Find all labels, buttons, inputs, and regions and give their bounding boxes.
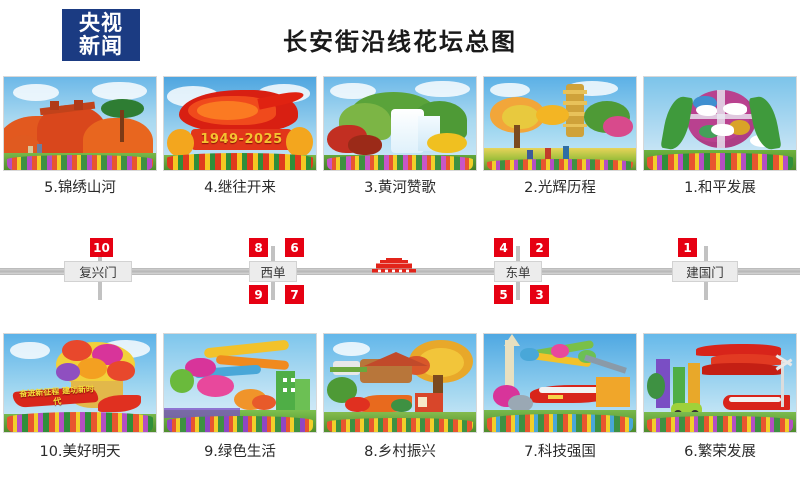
- map-marker-5[interactable]: 5: [494, 285, 513, 304]
- flowerbed-thumb-10[interactable]: 奋进新征程 建功新时代: [0, 333, 160, 433]
- map-marker-2[interactable]: 2: [530, 238, 549, 257]
- station-label: 复兴门: [79, 262, 117, 281]
- station-label: 东单: [505, 262, 530, 281]
- bottom-image-row: 奋进新征程 建功新时代: [0, 333, 800, 433]
- station-label: 建国门: [686, 262, 724, 281]
- flowerbed-thumb-5[interactable]: [0, 76, 160, 171]
- thumb-image-pagoda-autumn-trees: [483, 76, 637, 171]
- station-jianguomen[interactable]: 建国门: [672, 261, 738, 282]
- top-image-row: 1949-2025: [0, 76, 800, 171]
- flowerbed-thumb-3[interactable]: [320, 76, 480, 171]
- flowerbed-label-10: 10.美好明天: [0, 440, 160, 461]
- marker-number: 2: [535, 242, 543, 254]
- page-title: 长安街沿线花坛总图: [0, 22, 800, 57]
- flowerbed-label-9: 9.绿色生活: [160, 440, 320, 461]
- flowerbed-map-page: 央视 新闻 长安街沿线花坛总图: [0, 0, 800, 501]
- station-label: 西单: [260, 262, 285, 281]
- map-marker-4[interactable]: 4: [494, 238, 513, 257]
- flowerbed-label-5: 5.锦绣山河: [0, 176, 160, 197]
- thumb-image-prosperity-city-train: [643, 333, 797, 433]
- thumb-image-flower-basket-ribbon: 奋进新征程 建功新时代: [3, 333, 157, 433]
- flowerbed-thumb-7[interactable]: [480, 333, 640, 433]
- marker-number: 6: [290, 242, 298, 254]
- marker-number: 10: [93, 242, 110, 254]
- marker-number: 7: [290, 289, 298, 301]
- top-label-row: 5.锦绣山河 4.继往开来 3.黄河赞歌 2.光辉历程 1.和平发展: [0, 176, 800, 197]
- flowerbed-label-4: 4.继往开来: [160, 176, 320, 197]
- map-marker-10[interactable]: 10: [90, 238, 113, 257]
- map-marker-6[interactable]: 6: [285, 238, 304, 257]
- flowerbed-label-6: 6.繁荣发展: [640, 440, 800, 461]
- station-xidan[interactable]: 西单: [249, 261, 297, 282]
- flowerbed-label-1: 1.和平发展: [640, 176, 800, 197]
- thumb-image-tech-aircraft-dna: [483, 333, 637, 433]
- marker-number: 4: [499, 242, 507, 254]
- flowerbed-thumb-2[interactable]: [480, 76, 640, 171]
- marker-number: 9: [254, 289, 262, 301]
- map-marker-3[interactable]: 3: [530, 285, 549, 304]
- flowerbed-label-7: 7.科技强国: [480, 440, 640, 461]
- tiananmen-icon: [368, 258, 420, 276]
- flowerbed-thumb-1[interactable]: [640, 76, 800, 171]
- flowerbed-thumb-9[interactable]: [160, 333, 320, 433]
- flowerbed-label-3: 3.黄河赞歌: [320, 176, 480, 197]
- flowerbed-thumb-8[interactable]: [320, 333, 480, 433]
- changan-avenue-map: 复兴门 10 西单 8 6 9 7 东单 4 2: [0, 228, 800, 328]
- map-marker-8[interactable]: 8: [249, 238, 268, 257]
- bottom-label-row: 10.美好明天 9.绿色生活 8.乡村振兴 7.科技强国 6.繁荣发展: [0, 440, 800, 461]
- marker-number: 3: [535, 289, 543, 301]
- marker-number: 5: [499, 289, 507, 301]
- page-header: 央视 新闻 长安街沿线花坛总图: [0, 0, 800, 72]
- thumb-image-harvest-village-tree: [323, 333, 477, 433]
- marker-number: 8: [254, 242, 262, 254]
- flowerbed-thumb-4[interactable]: 1949-2025: [160, 76, 320, 171]
- flowerbed-label-2: 2.光辉历程: [480, 176, 640, 197]
- marker-number: 1: [683, 242, 691, 254]
- map-marker-9[interactable]: 9: [249, 285, 268, 304]
- map-marker-1[interactable]: 1: [678, 238, 697, 257]
- thumb-image-great-wall-mountains: [3, 76, 157, 171]
- station-fuxingmen[interactable]: 复兴门: [64, 261, 132, 282]
- flowerbed-label-8: 8.乡村振兴: [320, 440, 480, 461]
- thumb-image-red-flame-banner: 1949-2025: [163, 76, 317, 171]
- flowerbed-thumb-6[interactable]: [640, 333, 800, 433]
- map-marker-7[interactable]: 7: [285, 285, 304, 304]
- thumb-image-green-city-ribbons: [163, 333, 317, 433]
- thumb-image-yellow-river-waterfall: [323, 76, 477, 171]
- station-dongdan[interactable]: 东单: [494, 261, 542, 282]
- thumb-image-globe-doves-olive: [643, 76, 797, 171]
- flame-banner-year-text: 1949-2025: [194, 131, 288, 148]
